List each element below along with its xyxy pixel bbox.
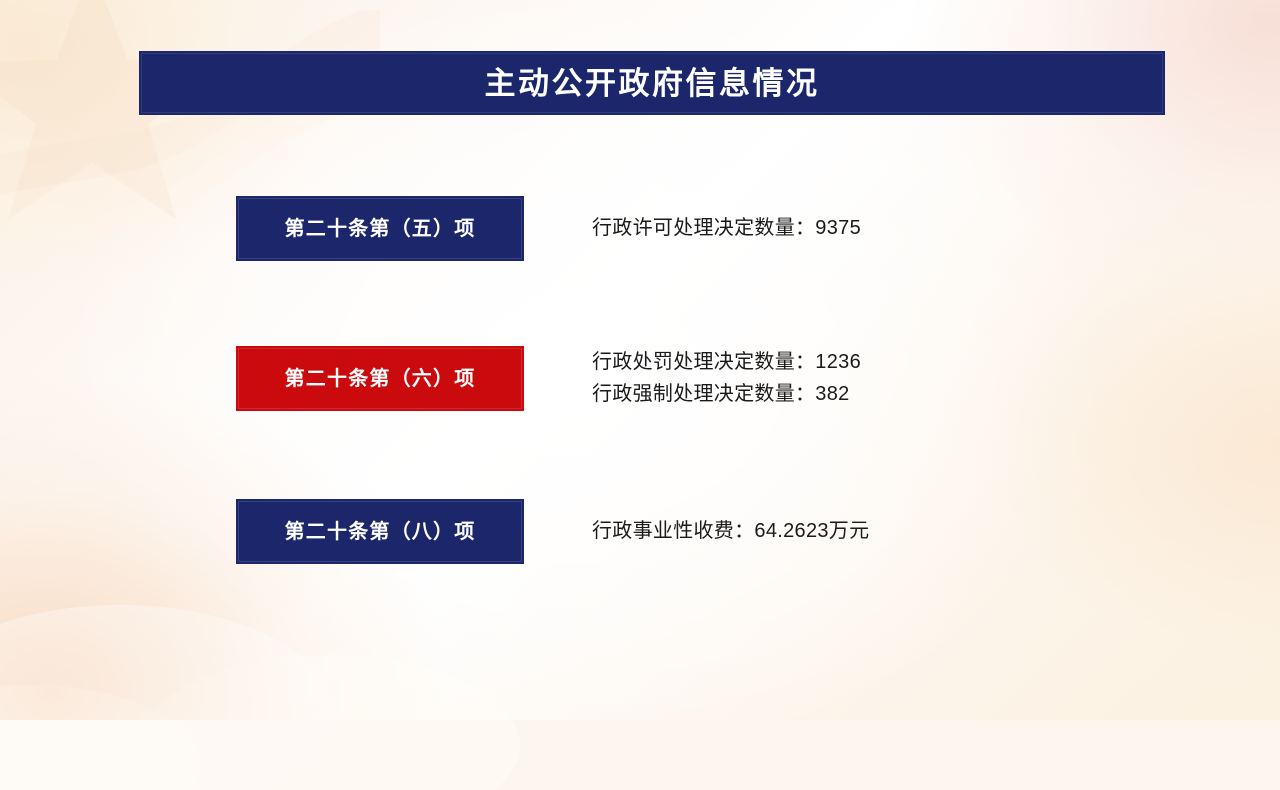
clause-label-text: 第二十条第（八）项 bbox=[285, 522, 476, 542]
clause-label-box-8[interactable]: 第二十条第（八）项 bbox=[236, 499, 524, 564]
slide-content: 主动公开政府信息情况 第二十条第（五）项 行政许可处理决定数量：9375 第二十… bbox=[0, 0, 1280, 720]
clause-detail-line: 行政事业性收费：64.2623万元 bbox=[592, 518, 869, 545]
clause-label-box-6[interactable]: 第二十条第（六）项 bbox=[236, 346, 524, 411]
content-row: 第二十条第（八）项 行政事业性收费：64.2623万元 bbox=[0, 499, 1280, 565]
clause-detail-line: 行政强制处理决定数量：382 bbox=[592, 381, 861, 408]
clause-detail-group-5: 行政许可处理决定数量：9375 bbox=[592, 196, 861, 261]
clause-detail-group-6: 行政处罚处理决定数量：1236 行政强制处理决定数量：382 bbox=[592, 346, 861, 411]
clause-label-text: 第二十条第（六）项 bbox=[285, 369, 476, 389]
clause-label-text: 第二十条第（五）项 bbox=[285, 219, 476, 239]
clause-detail-line: 行政处罚处理决定数量：1236 bbox=[592, 349, 861, 376]
slide-title-bar: 主动公开政府信息情况 bbox=[139, 51, 1165, 115]
content-row: 第二十条第（六）项 行政处罚处理决定数量：1236 行政强制处理决定数量：382 bbox=[0, 346, 1280, 412]
page-title: 主动公开政府信息情况 bbox=[485, 68, 820, 99]
content-row: 第二十条第（五）项 行政许可处理决定数量：9375 bbox=[0, 196, 1280, 262]
clause-label-box-5[interactable]: 第二十条第（五）项 bbox=[236, 196, 524, 261]
clause-detail-line: 行政许可处理决定数量：9375 bbox=[592, 215, 861, 242]
clause-detail-group-8: 行政事业性收费：64.2623万元 bbox=[592, 499, 869, 564]
